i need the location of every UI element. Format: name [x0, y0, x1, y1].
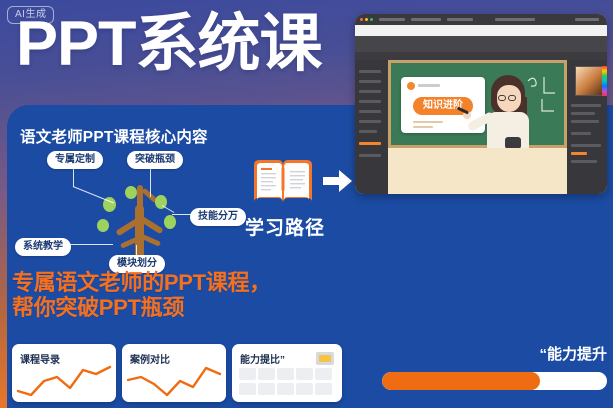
learning-path-label: 学习路径 — [245, 213, 325, 240]
slide-logo-icon — [407, 82, 415, 90]
tree-leaf — [125, 186, 137, 199]
open-book-icon — [250, 155, 316, 209]
slogan-line-2: 帮你突破PPT瓶颈 — [12, 295, 184, 320]
editor-options-bar — [355, 52, 607, 60]
panel-title: 语文老师PPT课程核心内容 — [20, 125, 208, 147]
tree-label-tupo-pingjing: 突破瓶颈 — [127, 151, 183, 169]
browser-tabbar — [355, 25, 607, 36]
ai-generated-badge: AI生成 — [7, 6, 54, 24]
knowledge-tree-diagram: 专属定制 突破瓶颈 技能分万 系统教学 模块划分 — [7, 145, 243, 270]
progress-label: “能力提升 — [539, 343, 607, 364]
close-icon[interactable] — [360, 18, 363, 21]
classroom-floor — [388, 148, 567, 194]
slogan-line-1: 专属语文老师的PPT课程， — [12, 270, 271, 295]
color-picker-field[interactable] — [575, 66, 603, 96]
glasses-icon — [508, 95, 516, 101]
blackboard: 知识进阶 — [388, 60, 567, 148]
sparkline-chart-1 — [16, 364, 112, 398]
poster-canvas: AI生成 PPT系统课 语文老师PPT课程核心内容 — [0, 0, 613, 408]
tree-connector — [172, 214, 192, 215]
hue-strip[interactable] — [602, 66, 607, 96]
slide-logo-text — [418, 84, 440, 87]
card-case-comparison[interactable]: 案例对比 — [122, 344, 226, 402]
grid-blocks — [239, 368, 335, 396]
tree-connector — [73, 186, 114, 203]
tree-connector — [150, 169, 151, 197]
feature-cards: 课程导录 案例对比 能力提比” — [12, 344, 342, 402]
sparkline-chart-2 — [126, 364, 222, 398]
tree-label-jineng-fenwan: 技能分万 — [190, 208, 246, 226]
tree-label-xitong-jiaoxue: 系统教学 — [15, 238, 71, 256]
tree-connector — [73, 169, 74, 187]
minimize-icon[interactable] — [365, 18, 368, 21]
progress-bar[interactable] — [382, 372, 607, 390]
progress-bar-fill — [382, 372, 540, 390]
maximize-icon[interactable] — [370, 18, 373, 21]
editor-canvas: 知识进阶 — [388, 60, 567, 194]
editor-left-panel — [355, 60, 388, 194]
card-title: 能力提比” — [240, 351, 285, 366]
editor-screenshot-illustration: 知识进阶 — [355, 14, 607, 194]
page-title: PPT系统课 — [16, 8, 322, 80]
card-course-outline[interactable]: 课程导录 — [12, 344, 116, 402]
tree-connector — [65, 244, 113, 245]
editor-right-panel — [567, 60, 607, 194]
window-titlebar — [355, 14, 607, 25]
glasses-icon — [498, 95, 506, 101]
tree-connector — [162, 205, 175, 213]
tree-leaf — [164, 215, 176, 229]
folder-icon — [316, 352, 334, 365]
card-ability-comparison[interactable]: 能力提比” — [232, 344, 342, 402]
editor-toolbar — [355, 36, 607, 52]
tree-leaf — [97, 219, 109, 232]
tree-label-zhuanshu-dingzhi: 专属定制 — [47, 151, 103, 169]
